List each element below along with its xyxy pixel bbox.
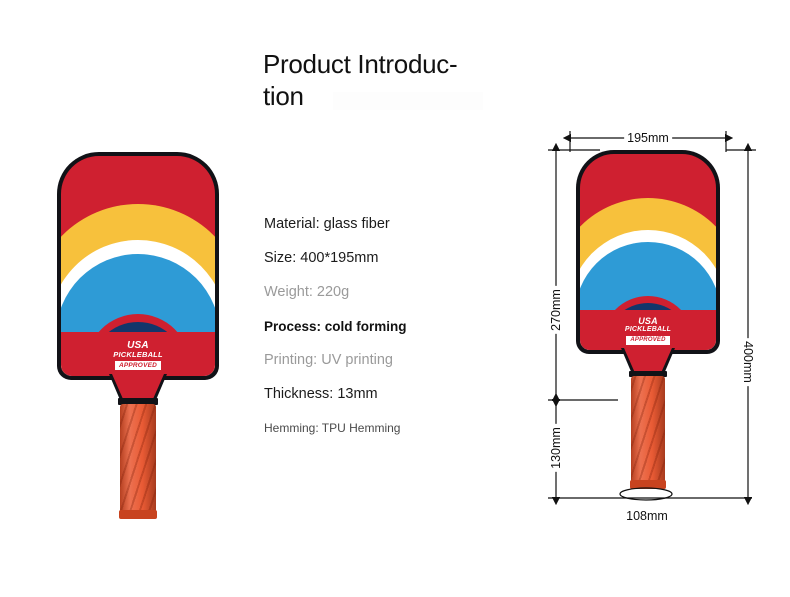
grip-end-cap — [119, 510, 157, 519]
product-image-paddle-right: USA PICKLEBALL APPROVED — [568, 150, 728, 498]
spec-item-hemming: Hemming: TPU Hemming — [264, 411, 474, 445]
dimension-label-handle-length: 130mm — [549, 424, 563, 472]
paddle-face: USA PICKLEBALL APPROVED — [61, 156, 215, 376]
paddle-grip-dim — [631, 376, 665, 486]
dimension-label-circumference: 108mm — [623, 509, 671, 523]
badge-line-approved-dim: APPROVED — [626, 336, 669, 345]
paddle-grip — [120, 404, 156, 516]
badge-line-pickleball: PICKLEBALL — [61, 351, 215, 359]
usa-pickleball-approved-badge: USA PICKLEBALL APPROVED — [61, 340, 215, 370]
paddle-head-bezel-dim: USA PICKLEBALL APPROVED — [576, 150, 720, 354]
usa-pickleball-approved-badge-dim: USA PICKLEBALL APPROVED — [580, 316, 716, 345]
grip-end-cap-dim — [630, 480, 666, 489]
badge-line-usa-dim: USA — [580, 316, 716, 326]
paddle-head-bezel: USA PICKLEBALL APPROVED — [57, 152, 219, 380]
spec-item-printing: Printing: UV printing — [264, 343, 474, 377]
spec-item-process: Process: cold forming — [264, 309, 474, 343]
spec-item-size: Size: 400*195mm — [264, 241, 474, 275]
spec-item-thickness: Thickness: 13mm — [264, 377, 474, 411]
badge-line-pickleball-dim: PICKLEBALL — [580, 326, 716, 334]
product-spec-list: Material: glass fiber Size: 400*195mm We… — [264, 207, 474, 445]
spec-item-weight: Weight: 220g — [264, 275, 474, 309]
dimension-label-width: 195mm — [624, 131, 672, 145]
title-watermark-smudge — [333, 92, 483, 110]
badge-line-approved: APPROVED — [115, 361, 161, 370]
product-image-paddle-left: USA PICKLEBALL APPROVED — [48, 152, 228, 512]
spec-item-material: Material: glass fiber — [264, 207, 474, 241]
dimension-label-face-height: 270mm — [549, 286, 563, 334]
paddle-face-dim: USA PICKLEBALL APPROVED — [580, 154, 716, 350]
dimension-label-total-height: 400mm — [741, 338, 755, 386]
